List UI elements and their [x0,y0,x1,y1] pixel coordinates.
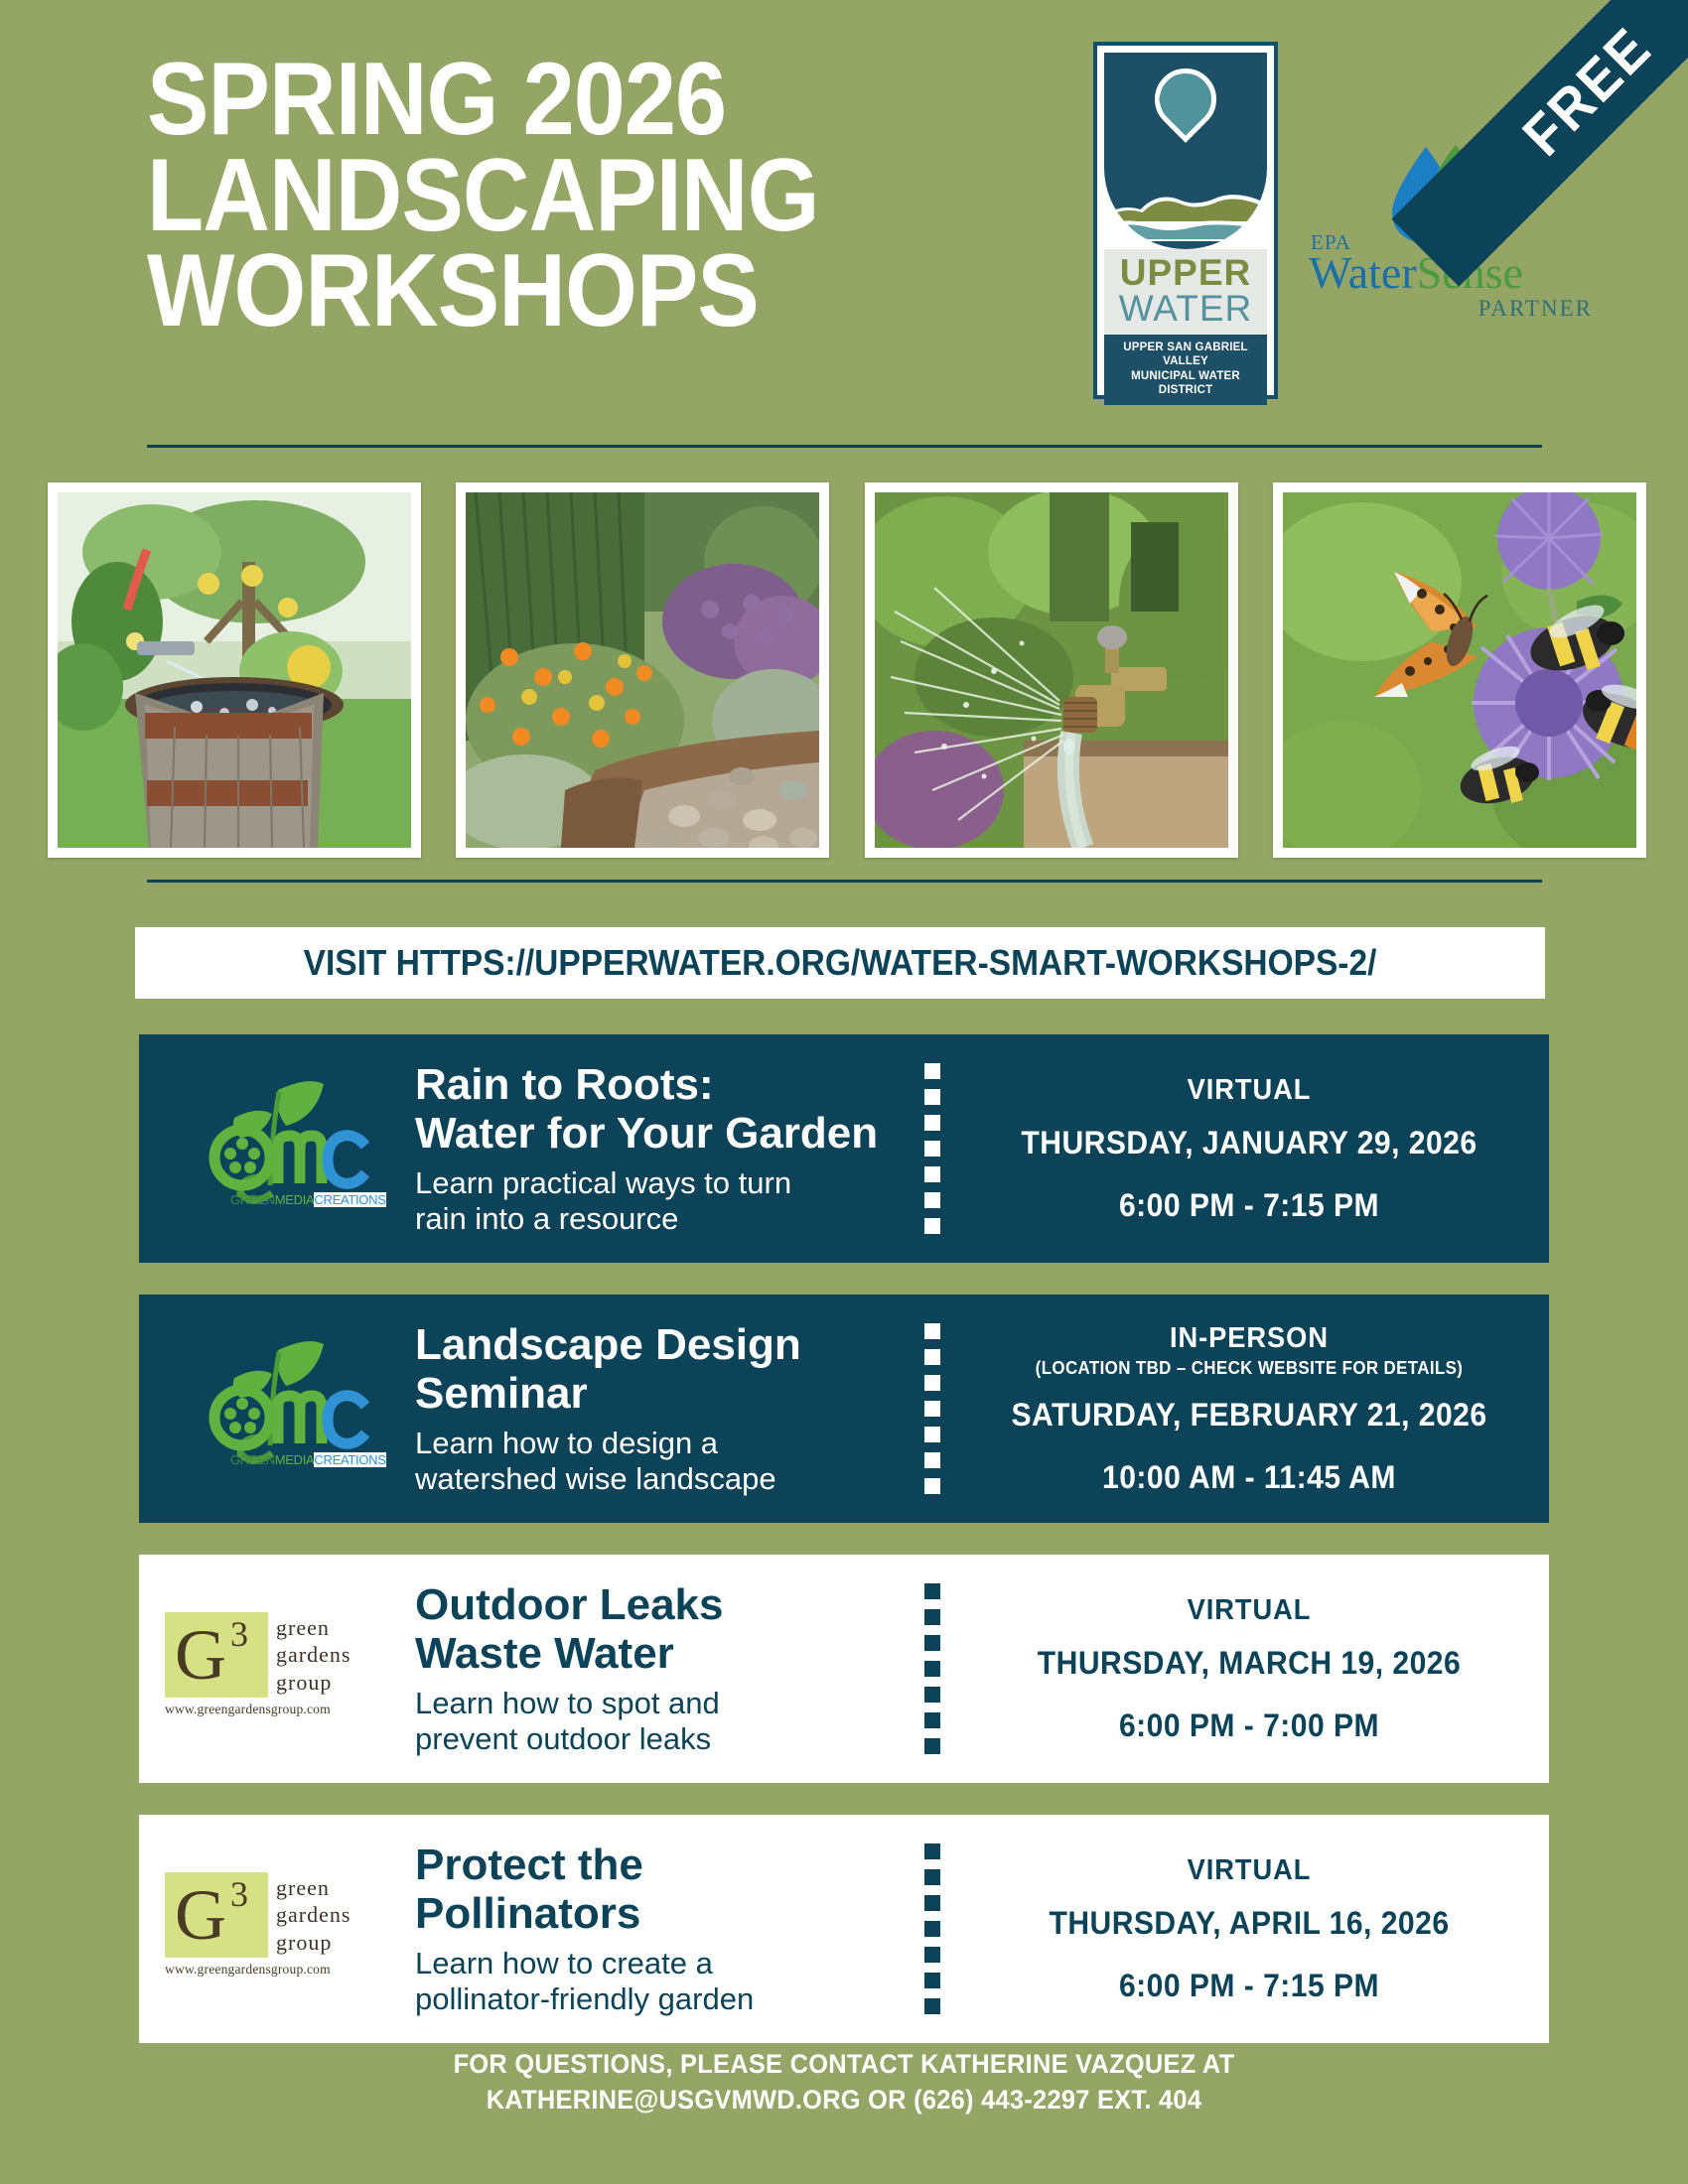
divider-dot [924,1401,940,1417]
workshop-info: Outdoor Leaks Waste Water Learn how to s… [409,1580,915,1757]
gmc-wordmark: GREENMEDIACREATIONS [230,1192,386,1207]
workshop-title: Rain to Roots: Water for Your Garden [415,1060,906,1159]
workshop-row[interactable]: G 3 green gardens group www.greengardens… [139,1555,1549,1783]
dotted-divider [919,1583,945,1754]
district-line-2: MUNICIPAL WATER DISTRICT [1106,369,1265,398]
water-drop-icon [1142,56,1229,143]
footer-line-1: FOR QUESTIONS, PLEASE CONTACT KATHERINE … [51,2047,1637,2083]
workshop-mode: VIRTUAL [980,1854,1517,1887]
workshop-time: 6:00 PM - 7:15 PM [980,1187,1517,1224]
watersense-word-water: Water [1309,247,1417,298]
watersense-partner-label: PARTNER [1478,296,1593,322]
g3-website: www.greengardensgroup.com [165,1702,331,1717]
divider-dot [924,1452,940,1468]
workshop-subtitle: Learn practical ways to turn rain into a… [415,1165,906,1237]
website-url-banner[interactable]: VISIT HTTPS://UPPERWATER.ORG/WATER-SMART… [135,927,1545,999]
g3-wordmark: green gardens group [276,1614,351,1696]
g3-wordmark: green gardens group [276,1874,351,1956]
workshop-row[interactable]: GREENMEDIACREATIONS Rain to Roots: Water… [139,1034,1549,1263]
upper-water-wordmark: UPPER WATER [1104,249,1267,335]
website-url-text: VISIT HTTPS://UPPERWATER.ORG/WATER-SMART… [304,942,1377,984]
workshop-partner-logo: G 3 green gardens group www.greengardens… [145,1870,409,1987]
photo-leaking-spigot [865,482,1238,858]
upper-water-district-name: UPPER SAN GABRIEL VALLEY MUNICIPAL WATER… [1104,335,1267,405]
g3-exponent: 3 [230,1612,248,1656]
divider-dot [924,1166,940,1182]
workshop-info: Protect the Pollinators Learn how to cre… [409,1841,915,2017]
workshop-mode: VIRTUAL [980,1074,1517,1107]
divider-dot [924,1609,940,1625]
g3-website: www.greengardensgroup.com [165,1962,331,1978]
green-media-creations-logo: GREENMEDIACREATIONS [183,1334,371,1483]
photo-pollinators [1273,482,1646,858]
workshop-partner-logo: GREENMEDIACREATIONS [145,1074,409,1223]
divider-dot [924,1323,940,1339]
divider-dot [924,1843,940,1859]
green-gardens-group-logo: G 3 green gardens group www.greengardens… [165,1870,389,1987]
divider-dot [924,1375,940,1391]
divider-dot [924,1738,940,1754]
photo-rain-barrel [48,482,421,858]
workshop-mode: VIRTUAL [980,1594,1517,1627]
green-gardens-group-logo: G 3 green gardens group www.greengardens… [165,1610,389,1727]
g3-letter: G [175,1612,226,1698]
divider-dot [924,1349,940,1365]
workshop-date: THURSDAY, MARCH 19, 2026 [980,1645,1517,1682]
divider-dot [924,1192,940,1208]
divider-dot [924,1661,940,1677]
photo-drought-garden [456,482,829,858]
divider-dot [924,1921,940,1937]
divider-dot [924,1947,940,1963]
divider-dot [924,1218,940,1234]
workshop-time: 6:00 PM - 7:00 PM [980,1707,1517,1744]
workshop-date: THURSDAY, JANUARY 29, 2026 [980,1125,1517,1161]
workshop-row[interactable]: G 3 green gardens group www.greengardens… [139,1815,1549,2043]
divider-dot [924,1712,940,1728]
workshop-partner-logo: G 3 green gardens group www.greengardens… [145,1610,409,1727]
g3-letter: G [175,1872,226,1958]
divider-dot [924,1115,940,1131]
workshop-schedule: IN-PERSON (LOCATION TBD – CHECK WEBSITE … [963,1322,1543,1496]
divider-dot [924,1583,940,1599]
workshop-row[interactable]: GREENMEDIACREATIONS Landscape Design Sem… [139,1295,1549,1523]
divider-dot [924,1063,940,1079]
workshop-subtitle: Learn how to spot and prevent outdoor le… [415,1686,906,1757]
hills-icon [1104,164,1267,249]
gmc-wordmark: GREENMEDIACREATIONS [230,1452,386,1467]
dotted-divider [919,1843,945,2014]
workshop-date: SATURDAY, FEBRUARY 21, 2026 [980,1397,1517,1433]
workshop-title: Outdoor Leaks Waste Water [415,1580,906,1679]
workshop-mode: IN-PERSON [980,1322,1517,1355]
divider-dot [924,1141,940,1157]
workshop-title: Landscape Design Seminar [415,1320,906,1419]
footer-line-2: KATHERINE@USGVMWD.ORG OR (626) 443-2297 … [51,2083,1637,2118]
upper-water-word-water: WATER [1104,291,1267,327]
workshop-partner-logo: GREENMEDIACREATIONS [145,1334,409,1483]
divider-dot [924,1687,940,1703]
district-line-1: UPPER SAN GABRIEL VALLEY [1106,341,1265,369]
workshop-schedule: VIRTUAL THURSDAY, JANUARY 29, 2026 6:00 … [963,1074,1543,1224]
divider-dot [924,1998,940,2014]
flyer-page: FREE SPRING 2026 LANDSCAPING WORKSHOPS U… [0,0,1688,2184]
page-title: SPRING 2026 LANDSCAPING WORKSHOPS [147,52,819,340]
divider-dot [924,1089,940,1105]
workshop-subtitle: Learn how to design a watershed wise lan… [415,1426,906,1497]
workshop-info: Rain to Roots: Water for Your Garden Lea… [409,1060,915,1237]
workshop-location-note: (LOCATION TBD – CHECK WEBSITE FOR DETAIL… [980,1358,1517,1379]
workshop-date: THURSDAY, APRIL 16, 2026 [980,1905,1517,1942]
green-media-creations-logo: GREENMEDIACREATIONS [183,1074,371,1223]
divider-dot [924,1895,940,1911]
workshop-subtitle: Learn how to create a pollinator-friendl… [415,1946,906,2017]
photo-strip [48,482,1646,858]
footer-contact: FOR QUESTIONS, PLEASE CONTACT KATHERINE … [0,2047,1688,2117]
workshop-schedule: VIRTUAL THURSDAY, APRIL 16, 2026 6:00 PM… [963,1854,1543,2004]
divider-dot [924,1869,940,1885]
workshop-time: 6:00 PM - 7:15 PM [980,1968,1517,2004]
workshop-time: 10:00 AM - 11:45 AM [980,1459,1517,1496]
divider-dot [924,1635,940,1651]
divider-dot [924,1478,940,1494]
upper-water-shield-icon [1104,53,1267,249]
divider-dot [924,1427,940,1442]
workshop-info: Landscape Design Seminar Learn how to de… [409,1320,915,1497]
upper-water-logo: UPPER WATER UPPER SAN GABRIEL VALLEY MUN… [1093,42,1278,399]
dotted-divider [919,1063,945,1234]
workshop-title: Protect the Pollinators [415,1841,906,1939]
divider-bottom [147,880,1542,883]
workshop-list: GREENMEDIACREATIONS Rain to Roots: Water… [139,1034,1549,2075]
g3-exponent: 3 [230,1872,248,1916]
divider-dot [924,1973,940,1988]
upper-water-word-upper: UPPER [1104,255,1267,291]
workshop-schedule: VIRTUAL THURSDAY, MARCH 19, 2026 6:00 PM… [963,1594,1543,1744]
divider-top [147,445,1542,448]
dotted-divider [919,1323,945,1494]
